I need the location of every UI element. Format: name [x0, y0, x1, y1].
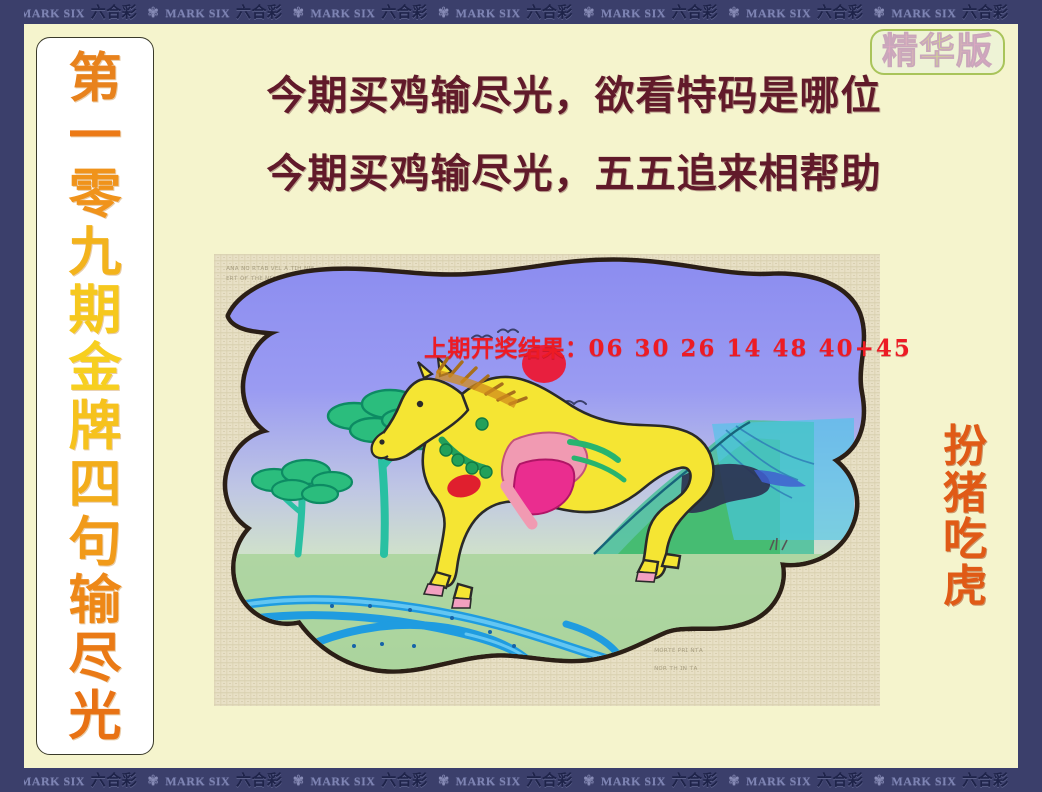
frame-top-border: ✾ MARK SIX 六合彩✾ MARK SIX 六合彩✾ MARK SIX 六…	[0, 0, 1042, 24]
flower-icon: ✾	[147, 773, 159, 789]
liuhecai-label: 六合彩	[817, 3, 864, 21]
liuhecai-label: 六合彩	[672, 771, 719, 789]
issue-title-char-10: 尽	[69, 630, 122, 688]
issue-title-char-2: 零	[69, 166, 122, 224]
flower-icon: ✾	[728, 773, 740, 789]
poster-sheet: 第一零九期金牌四句输尽光 精华版 今期买鸡输尽光，欲看特码是哪位 今期买鸡输尽光…	[24, 24, 1018, 768]
slogan-vertical: 扮猪吃虎	[926, 424, 1004, 611]
mark-six-label: MARK SIX	[746, 6, 811, 20]
liuhecai-label: 六合彩	[381, 771, 428, 789]
issue-title-char-4: 期	[69, 282, 122, 340]
mark-six-label: MARK SIX	[601, 6, 666, 20]
couplet-line-2: 今期买鸡输尽光，五五追来相帮助	[174, 154, 974, 194]
couplet-block: 今期买鸡输尽光，欲看特码是哪位 今期买鸡输尽光，五五追来相帮助	[174, 76, 974, 232]
flower-icon: ✾	[292, 5, 304, 21]
issue-title-char-5: 金	[69, 340, 122, 398]
mark-six-label: MARK SIX	[165, 6, 230, 20]
flower-icon: ✾	[583, 5, 595, 21]
flower-icon: ✾	[583, 773, 595, 789]
liuhecai-label: 六合彩	[236, 771, 283, 789]
last-draw-numbers: 06 30 26 14 48 40+45	[589, 335, 912, 362]
edition-badge-label: 精华版	[882, 33, 993, 69]
mark-six-label: MARK SIX	[310, 6, 375, 20]
issue-title-banner: 第一零九期金牌四句输尽光	[36, 37, 154, 755]
lottery-poster: ✾ MARK SIX 六合彩✾ MARK SIX 六合彩✾ MARK SIX 六…	[0, 0, 1042, 792]
flower-icon: ✾	[438, 5, 450, 21]
svg-text:ᴍᴏʀᴛᴇ ᴘʀɪ ɴᴛᴀ: ᴍᴏʀᴛᴇ ᴘʀɪ ɴᴛᴀ	[654, 646, 703, 654]
mark-six-label: MARK SIX	[456, 6, 521, 20]
liuhecai-label: 六合彩	[526, 3, 573, 21]
mark-six-label: MARK SIX	[601, 774, 666, 788]
couplet-line-1: 今期买鸡输尽光，欲看特码是哪位	[174, 76, 974, 116]
liuhecai-label: 六合彩	[672, 3, 719, 21]
issue-title-char-0: 第	[69, 50, 122, 108]
mark-six-label: MARK SIX	[891, 6, 956, 20]
mark-six-label: MARK SIX	[20, 6, 85, 20]
illustration-svg: ᴀɴᴀ ɴᴏ ʀᴛᴀʙ ᴠᴇʟ ᴀ ᴛɪʜ ɴɪᴇ ᴇʀᴛ ᴏғ ᴛʜᴇ ɴɪᴀ…	[214, 254, 880, 706]
frame-left-border: ✾ MARK SIX 六合彩✾ MARK SIX 六合彩✾ MARK SIX 六…	[0, 0, 24, 792]
liuhecai-label: 六合彩	[91, 771, 138, 789]
issue-title-char-3: 九	[69, 224, 122, 282]
liuhecai-label: 六合彩	[91, 3, 138, 21]
mark-six-label: MARK SIX	[456, 774, 521, 788]
flower-icon: ✾	[292, 773, 304, 789]
issue-title-char-9: 输	[69, 572, 122, 630]
frame-bottom-border: ✾ MARK SIX 六合彩✾ MARK SIX 六合彩✾ MARK SIX 六…	[0, 768, 1042, 792]
liuhecai-label: 六合彩	[817, 771, 864, 789]
horse-illustration: ᴀɴᴀ ɴᴏ ʀᴛᴀʙ ᴠᴇʟ ᴀ ᴛɪʜ ɴɪᴇ ᴇʀᴛ ᴏғ ᴛʜᴇ ɴɪᴀ…	[214, 254, 880, 706]
last-draw-result: 上期开奖结果：06 30 26 14 48 40+45	[424, 329, 912, 363]
slogan-char-1: 猪	[926, 471, 1004, 518]
flower-icon: ✾	[438, 773, 450, 789]
issue-title-char-6: 牌	[69, 398, 122, 456]
slogan-char-0: 扮	[926, 424, 1004, 471]
flower-icon: ✾	[873, 5, 885, 21]
issue-title-char-8: 句	[69, 514, 122, 572]
mark-six-label: MARK SIX	[746, 774, 811, 788]
last-draw-label: 上期开奖结果：	[424, 335, 589, 362]
flower-icon: ✾	[147, 5, 159, 21]
mark-six-label: MARK SIX	[20, 774, 85, 788]
liuhecai-label: 六合彩	[962, 771, 1009, 789]
liuhecai-label: 六合彩	[381, 3, 428, 21]
issue-title-char-11: 光	[69, 688, 122, 746]
issue-title-char-1: 一	[69, 108, 122, 166]
flower-icon: ✾	[728, 5, 740, 21]
issue-title-char-7: 四	[69, 456, 122, 514]
slogan-char-3: 虎	[926, 564, 1004, 611]
flower-icon: ✾	[873, 773, 885, 789]
frame-right-border: ✾ MARK SIX 六合彩✾ MARK SIX 六合彩✾ MARK SIX 六…	[1018, 0, 1042, 792]
liuhecai-label: 六合彩	[526, 771, 573, 789]
liuhecai-label: 六合彩	[962, 3, 1009, 21]
svg-text:ɴᴏʀ ᴛʜ ɪɴ ᴛᴀ: ɴᴏʀ ᴛʜ ɪɴ ᴛᴀ	[654, 664, 698, 672]
frame-top-pattern: ✾ MARK SIX 六合彩✾ MARK SIX 六合彩✾ MARK SIX 六…	[2, 0, 1042, 24]
mark-six-label: MARK SIX	[310, 774, 375, 788]
liuhecai-label: 六合彩	[236, 3, 283, 21]
slogan-char-2: 吃	[926, 517, 1004, 564]
mark-six-label: MARK SIX	[891, 774, 956, 788]
mark-six-label: MARK SIX	[165, 774, 230, 788]
edition-badge: 精华版	[870, 29, 1005, 75]
frame-bottom-pattern: ✾ MARK SIX 六合彩✾ MARK SIX 六合彩✾ MARK SIX 六…	[2, 768, 1042, 792]
